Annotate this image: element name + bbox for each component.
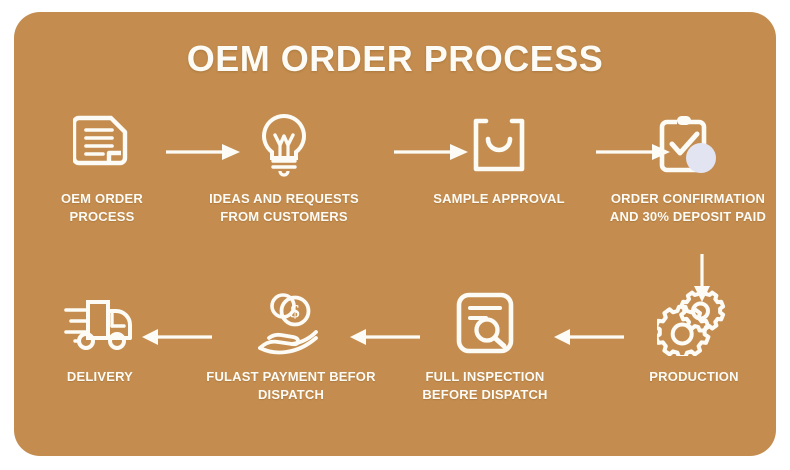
step-label: PRODUCTION [614,368,774,386]
step-label: ORDER CONFIRMATION AND 30% DEPOSIT PAID [600,190,776,227]
infographic-panel: OEM ORDER PROCESS OEM ORDER PROCESS [14,12,776,456]
page-title: OEM ORDER PROCESS [14,38,776,80]
step-label: DELIVERY [24,368,176,386]
step-ideas-requests: IDEAS AND REQUESTS FROM CUSTOMERS [194,112,374,227]
step-production: PRODUCTION [614,290,774,386]
step-order-confirmation: ORDER CONFIRMATION AND 30% DEPOSIT PAID [600,112,776,227]
step-label: IDEAS AND REQUESTS FROM CUSTOMERS [194,190,374,227]
step-sample-approval: SAMPLE APPROVAL [414,112,584,208]
step-label: FULL INSPECTION BEFORE DISPATCH [406,368,564,405]
document-search-icon [406,290,564,356]
step-oem-order-process: OEM ORDER PROCESS [22,112,182,227]
step-label: OEM ORDER PROCESS [22,190,182,227]
clipboard-check-icon [600,112,776,178]
step-final-payment: $ FULAST PAYMENT BEFOR DISPATCH [198,290,384,405]
delivery-truck-icon [24,290,176,356]
step-delivery: DELIVERY [24,290,176,386]
svg-text:$: $ [290,302,300,323]
shopping-bag-icon [414,112,584,178]
step-label: FULAST PAYMENT BEFOR DISPATCH [198,368,384,405]
step-label: SAMPLE APPROVAL [414,190,584,208]
gears-icon [614,290,774,356]
hand-holding-money-icon: $ [198,290,384,356]
lightbulb-icon [194,112,374,178]
step-full-inspection: FULL INSPECTION BEFORE DISPATCH [406,290,564,405]
arrow-left-icon-1 [554,327,626,347]
document-icon [22,112,182,178]
